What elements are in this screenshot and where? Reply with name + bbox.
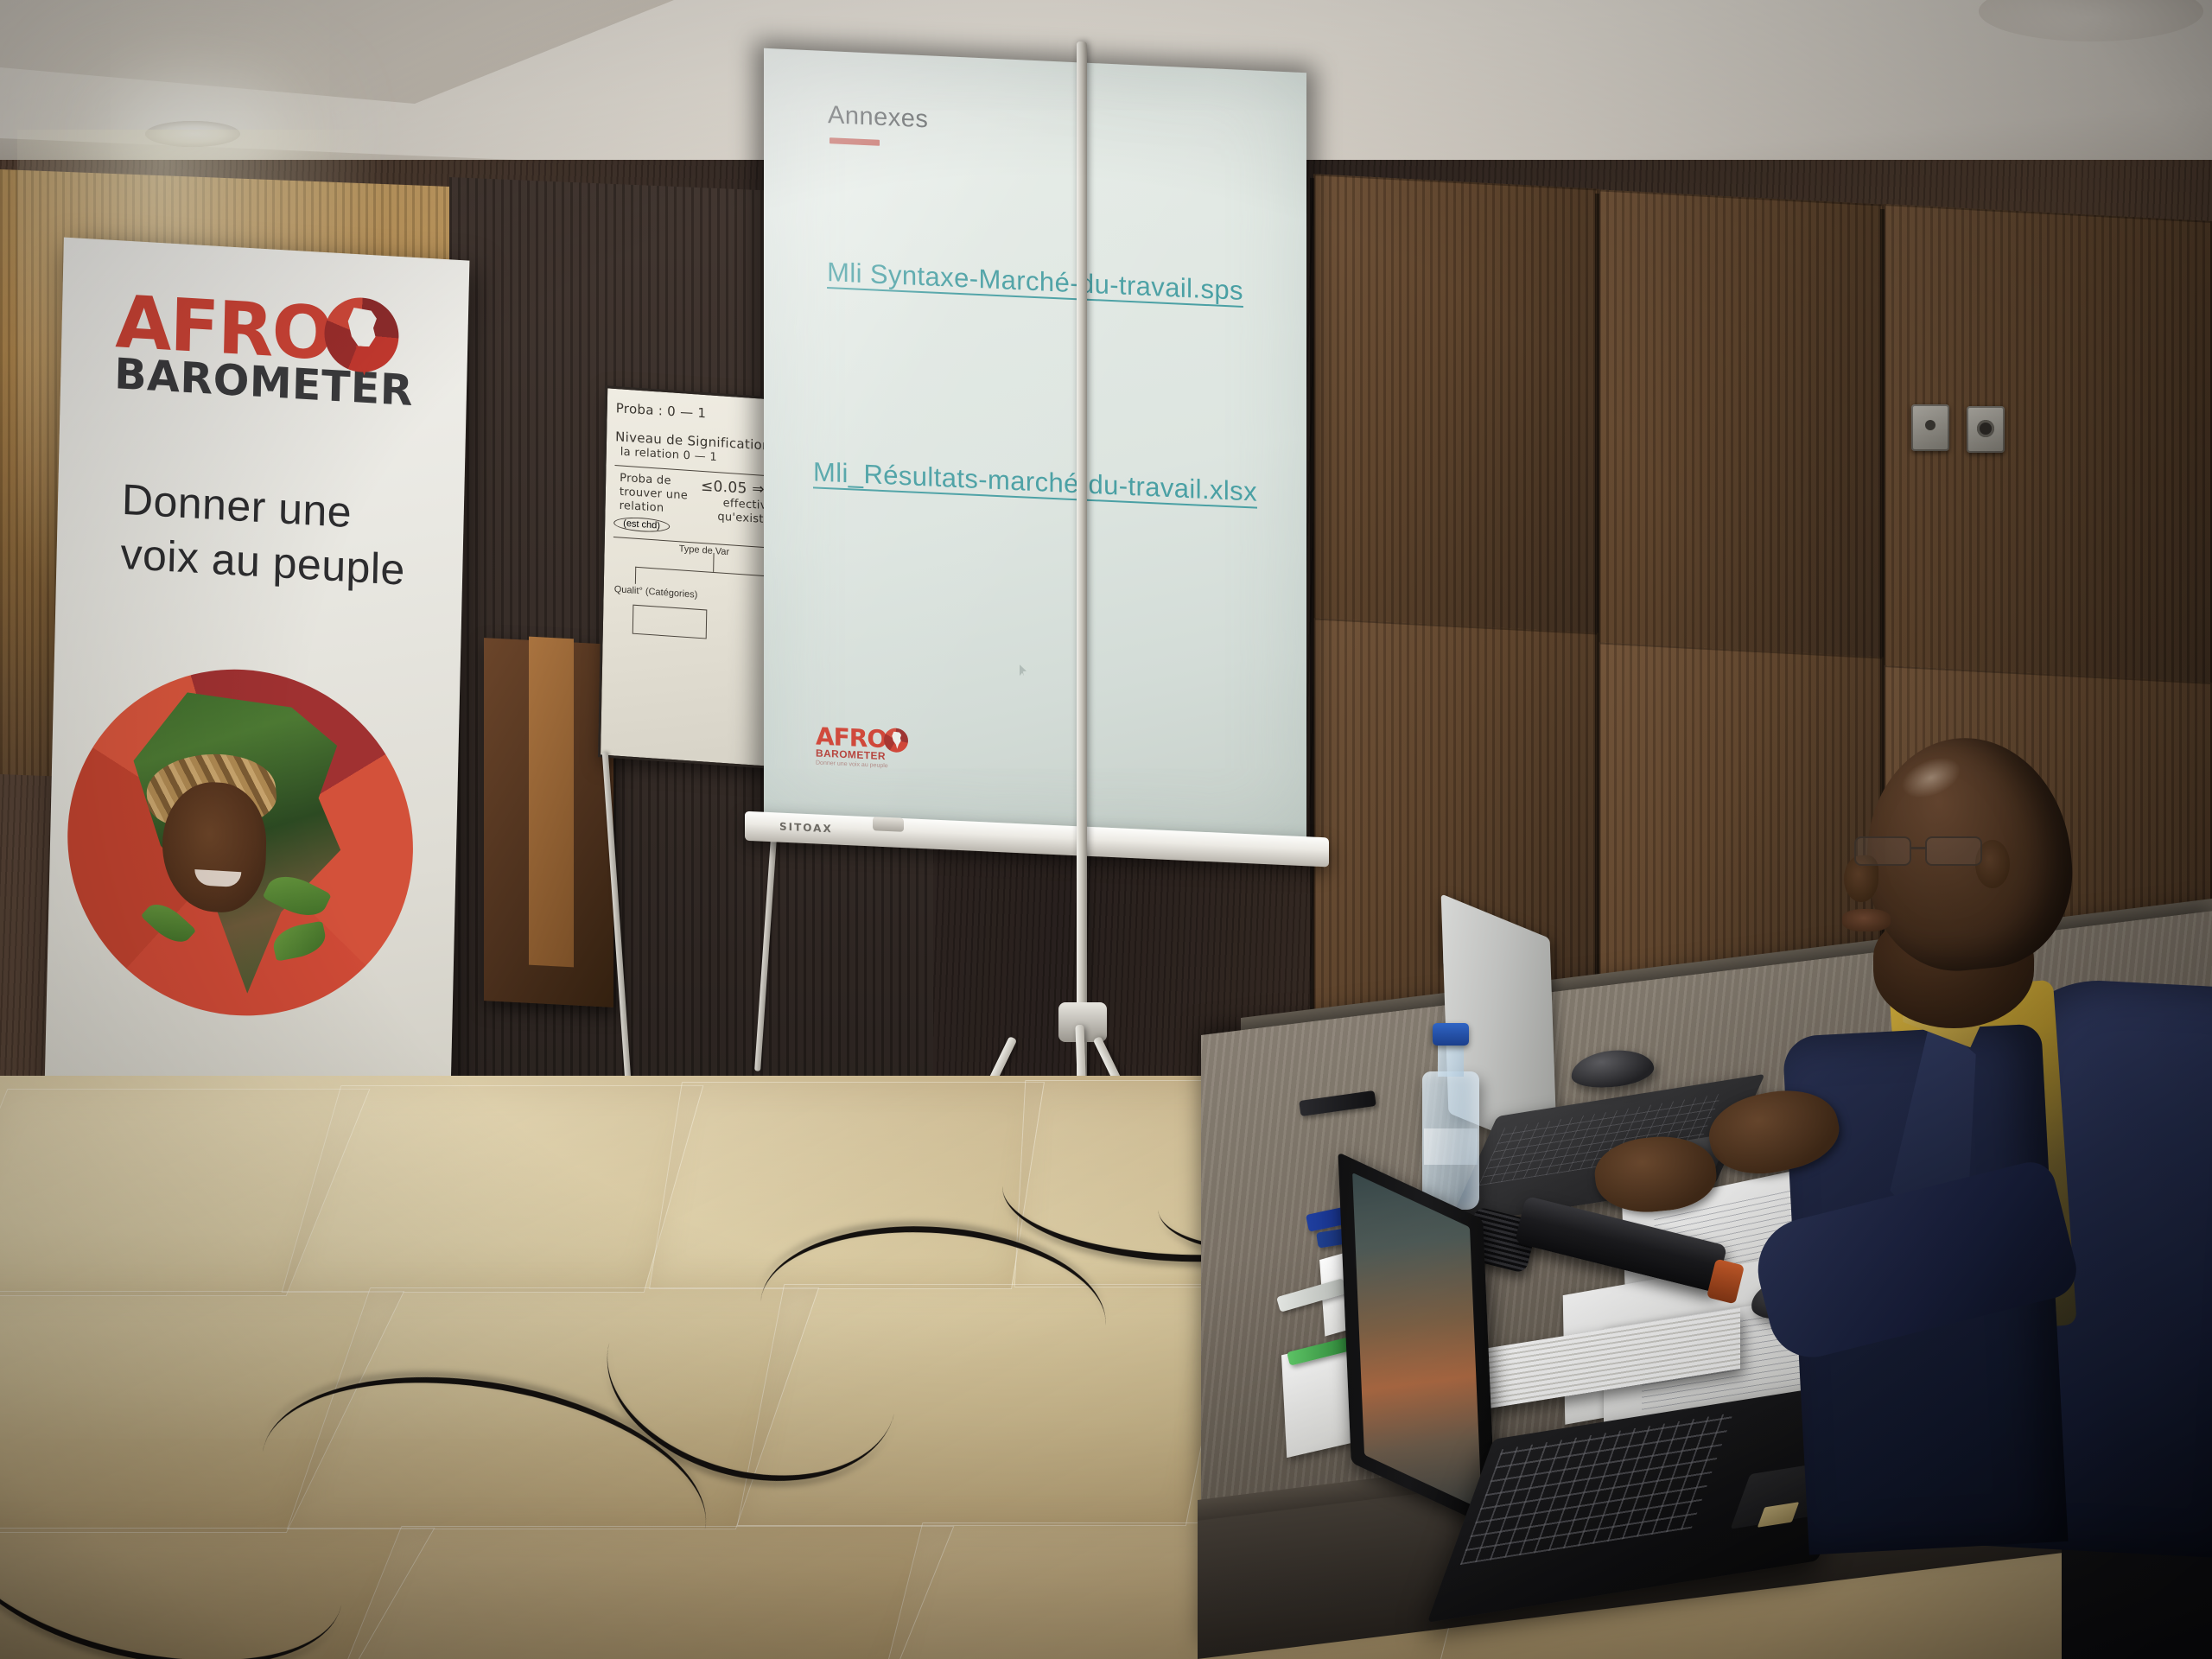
floor-tile: [282, 1085, 704, 1293]
seated-presenter: [1771, 726, 2212, 1659]
banner-africa-graphic: [44, 641, 452, 1098]
banner-logo: AFRO BAROMETER: [114, 287, 419, 416]
screen-end-cap: [873, 817, 904, 832]
light-switch-icon[interactable]: [1911, 404, 1949, 451]
room-photo-scene: AFRO BAROMETER Donner une voix au peuple…: [0, 0, 2212, 1659]
slide-footer-logo: AFRO BAROMETER Donner une voix au peuple: [816, 724, 911, 770]
power-socket-icon[interactable]: [1967, 406, 2005, 453]
screen-brand-label: SITOAX: [779, 821, 833, 836]
water-bottle-neck: [1438, 1040, 1464, 1077]
wall-panel: [1599, 189, 1884, 662]
projected-slide: Annexes Mli Syntaxe-Marché-du-travail.sp…: [764, 48, 1306, 842]
podium-edge: [529, 637, 574, 968]
wall-panel: [1313, 174, 1599, 638]
flipchart-circled-note: (est chd): [613, 516, 670, 533]
flipchart-tree-branch-left: Qualit° (Catégories): [614, 584, 709, 601]
eyeglasses-icon: [1854, 836, 2010, 866]
flipchart-tree-root: Type de Var: [679, 543, 730, 557]
projection-screen: Annexes Mli Syntaxe-Marché-du-travail.sp…: [764, 48, 1306, 842]
mouth: [1842, 909, 1891, 931]
screen-tripod-mast: [1077, 41, 1087, 1113]
easel-leg: [602, 752, 631, 1080]
africa-globe-icon: [884, 728, 908, 753]
mouse-cursor-icon: [1020, 664, 1027, 676]
slide-link-syntax-file[interactable]: Mli Syntaxe-Marché-du-travail.sps: [764, 254, 1306, 310]
banner-tagline: Donner une voix au peuple: [120, 473, 424, 599]
ceiling-downlight: [145, 121, 240, 147]
water-bottle-cap[interactable]: [1433, 1023, 1469, 1046]
wall-panel-seam: [1595, 194, 1599, 1109]
africa-globe-icon: [324, 296, 400, 374]
water-bottle-label: [1424, 1128, 1478, 1165]
slide-title: Annexes: [828, 101, 928, 134]
slide-link-results-file[interactable]: Mli_Résultats-marché-du-travail.xlsx: [764, 454, 1306, 511]
slide-title-underline: [829, 137, 880, 146]
afrobarometer-rollup-banner: AFRO BAROMETER Donner une voix au peuple: [44, 238, 470, 1151]
